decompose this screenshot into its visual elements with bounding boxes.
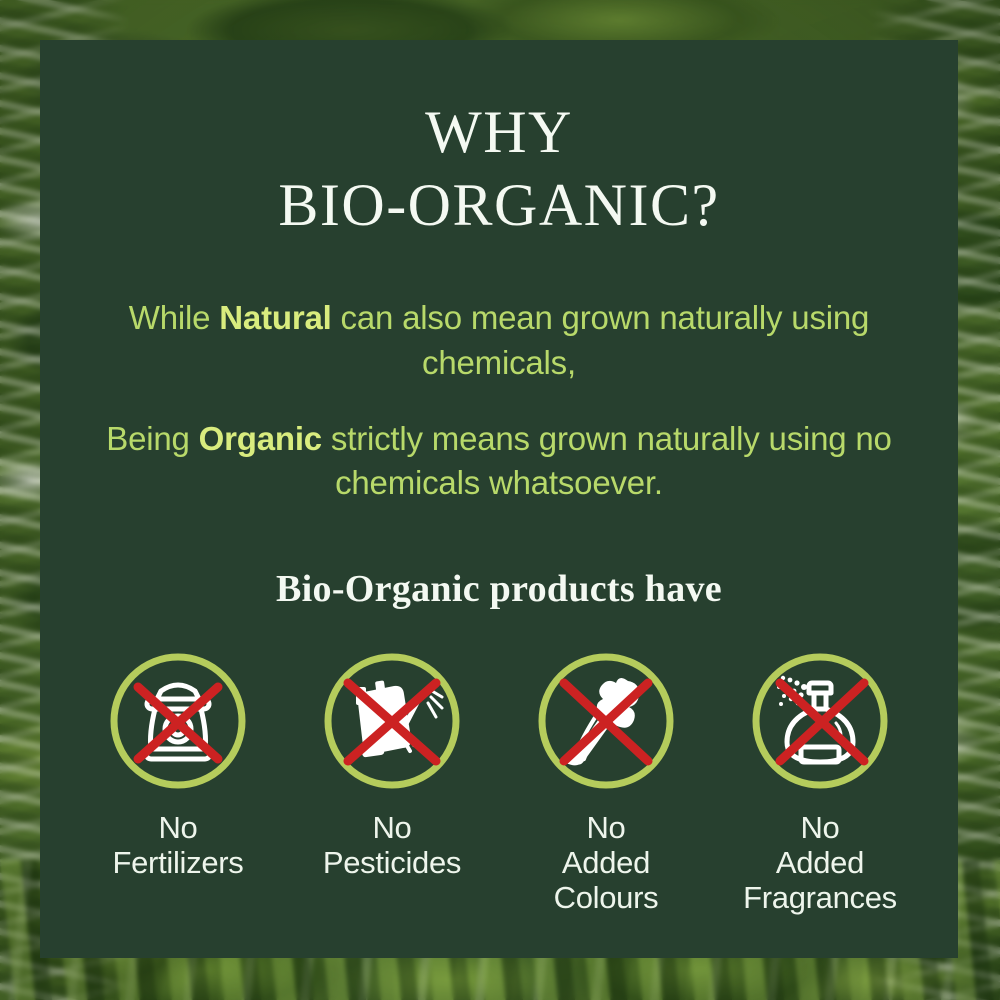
paragraph-1-part-2: can also mean grown naturally using chem…	[332, 299, 870, 380]
content-panel: WHY BIO-ORGANIC? While Natural can also …	[40, 40, 958, 958]
title-line-2: BIO-ORGANIC?	[278, 169, 719, 242]
paragraph-1-part-1: While	[129, 299, 220, 336]
feature-item-no-pesticides: No Pesticides	[297, 647, 487, 880]
poster-canvas: WHY BIO-ORGANIC? While Natural can also …	[0, 0, 1000, 1000]
feature-item-no-fertilizers: No Fertilizers	[83, 647, 273, 880]
no-pesticide-sprayer-icon	[318, 647, 466, 795]
title-line-1: WHY	[425, 99, 573, 165]
feature-icon-row: No Fertilizers	[59, 647, 939, 915]
feature-caption-no-pesticides: No Pesticides	[323, 811, 461, 880]
page-title: WHY BIO-ORGANIC?	[278, 96, 719, 242]
body-copy: While Natural can also mean grown natura…	[59, 296, 939, 505]
no-added-colours-dropper-icon	[532, 647, 680, 795]
emphasis-natural: Natural	[219, 299, 331, 336]
no-added-fragrances-bottle-icon	[746, 647, 894, 795]
feature-item-no-added-fragrances: No Added Fragrances	[725, 647, 915, 915]
paragraph-natural: While Natural can also mean grown natura…	[59, 296, 939, 384]
paragraph-2-part-1: Being	[106, 420, 198, 457]
feature-item-no-added-colours: No Added Colours	[511, 647, 701, 915]
section-subheading: Bio-Organic products have	[276, 567, 722, 611]
feature-caption-no-added-colours: No Added Colours	[554, 811, 659, 915]
no-fertilizer-sack-icon	[104, 647, 252, 795]
feature-caption-no-added-fragrances: No Added Fragrances	[743, 811, 897, 915]
emphasis-organic: Organic	[199, 420, 322, 457]
paragraph-2-part-2: strictly means grown naturally using no …	[322, 420, 892, 501]
paragraph-organic: Being Organic strictly means grown natur…	[59, 417, 939, 505]
feature-caption-no-fertilizers: No Fertilizers	[112, 811, 243, 880]
